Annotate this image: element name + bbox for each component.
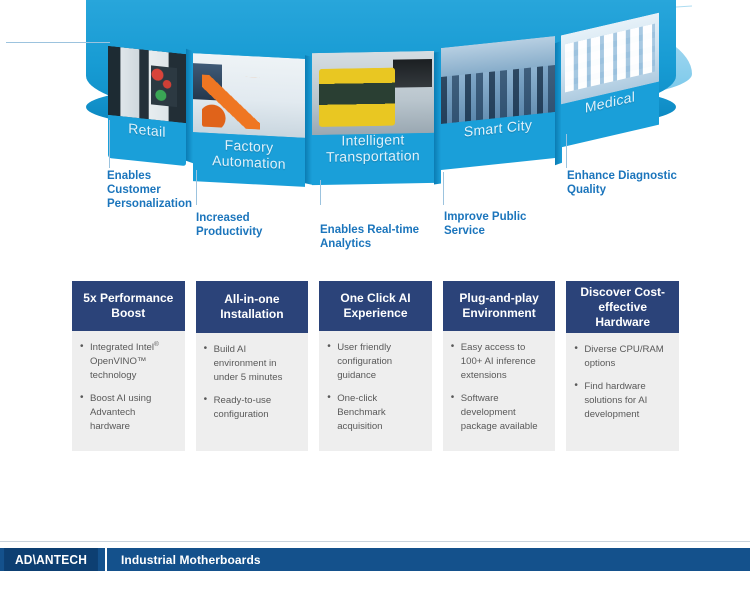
- segment-edge-factory: [305, 55, 312, 184]
- leader-line-retail: [109, 120, 110, 168]
- card-bullet: Software development package available: [450, 392, 548, 434]
- segment-intelligent-transportation[interactable]: Intelligent Transportation: [312, 51, 434, 185]
- bullet-text-pre: Boost AI using Advantech hardware: [90, 393, 151, 432]
- caption-city-line1: Improve Public: [444, 210, 526, 224]
- caption-smart-city: Improve Public Service: [444, 210, 526, 238]
- bullet-text-pre: Diverse CPU/RAM options: [584, 344, 663, 369]
- feature-card[interactable]: 5x Performance Boost Integrated Intel® O…: [72, 281, 185, 451]
- card-body: Integrated Intel® OpenVINO™ technology B…: [72, 331, 185, 451]
- bullet-text-pre: User friendly configuration guidance: [337, 342, 392, 381]
- card-bullet: Diverse CPU/RAM options: [573, 343, 671, 371]
- slide-canvas: Retail Factory Automation Intelligent Tr…: [0, 0, 750, 591]
- card-title: Discover Cost-effective Hardware: [566, 281, 679, 333]
- caption-factory: Increased Productivity: [196, 211, 262, 239]
- bullet-superscript: ®: [154, 341, 159, 348]
- feature-card-row: 5x Performance Boost Integrated Intel® O…: [72, 281, 679, 451]
- footer-title: Industrial Motherboards: [121, 553, 261, 567]
- card-bullet: Boost AI using Advantech hardware: [79, 392, 177, 434]
- caption-retail-line3: Personalization: [107, 197, 192, 211]
- leader-line-transport: [320, 180, 321, 205]
- leader-line-medical: [566, 134, 567, 168]
- caption-medical: Enhance Diagnostic Quality: [567, 169, 677, 197]
- feature-card[interactable]: Discover Cost-effective Hardware Diverse…: [566, 281, 679, 451]
- leader-line-city: [443, 172, 444, 205]
- smart-city-photo: [441, 36, 555, 124]
- card-body: Build AI environment in under 5 minutes …: [196, 333, 309, 451]
- segment-retail[interactable]: Retail: [108, 46, 186, 166]
- footer-divider-rule: [0, 541, 750, 542]
- card-bullet: Find hardware solutions for AI developme…: [573, 380, 671, 422]
- factory-photo: [193, 53, 305, 138]
- card-bullet: Integrated Intel® OpenVINO™ technology: [79, 341, 177, 383]
- bullet-text-pre: Software development package available: [461, 393, 538, 432]
- bullet-text-pre: Ready-to-use configuration: [214, 395, 272, 420]
- caption-medical-line1: Enhance Diagnostic: [567, 169, 677, 183]
- segment-label-transport-2: Transportation: [312, 147, 434, 165]
- card-title: One Click AI Experience: [319, 281, 432, 331]
- feature-card[interactable]: Plug-and-play Environment Easy access to…: [443, 281, 556, 451]
- segment-medical[interactable]: Medical: [561, 13, 659, 148]
- card-body: Diverse CPU/RAM options Find hardware so…: [566, 333, 679, 451]
- card-bullet: Ready-to-use configuration: [203, 394, 301, 422]
- card-bullet: Build AI environment in under 5 minutes: [203, 343, 301, 385]
- card-body: User friendly configuration guidance One…: [319, 331, 432, 451]
- footer-separator: [105, 548, 107, 571]
- card-title: Plug-and-play Environment: [443, 281, 556, 331]
- caption-retail: Enables Customer Personalization: [107, 169, 192, 211]
- caption-retail-line1: Enables: [107, 169, 192, 183]
- card-title: 5x Performance Boost: [72, 281, 185, 331]
- footer-bar: AD\ANTECH Industrial Motherboards: [0, 548, 750, 571]
- card-bullet: User friendly configuration guidance: [326, 341, 424, 383]
- leader-line-factory: [196, 170, 197, 205]
- transportation-photo: [312, 51, 434, 135]
- segment-factory-automation[interactable]: Factory Automation: [193, 53, 305, 187]
- feature-card[interactable]: One Click AI Experience User friendly co…: [319, 281, 432, 451]
- segment-smart-city[interactable]: Smart City: [441, 36, 555, 170]
- caption-factory-line1: Increased: [196, 211, 262, 225]
- caption-medical-line2: Quality: [567, 183, 677, 197]
- card-body: Easy access to 100+ AI inference extensi…: [443, 331, 556, 451]
- bullet-text-pre: Find hardware solutions for AI developme…: [584, 381, 647, 420]
- card-bullet: One-click Benchmark acquisition: [326, 392, 424, 434]
- card-bullet: Easy access to 100+ AI inference extensi…: [450, 341, 548, 383]
- caption-factory-line2: Productivity: [196, 225, 262, 239]
- segment-edge-retail: [186, 49, 193, 164]
- feature-card[interactable]: All-in-one Installation Build AI environ…: [196, 281, 309, 451]
- segment-edge-transport: [434, 52, 441, 185]
- caption-transport-line1: Enables Real-time: [320, 223, 419, 237]
- bullet-text-pre: One-click Benchmark acquisition: [337, 393, 386, 432]
- caption-retail-line2: Customer: [107, 183, 192, 197]
- retail-photo: [108, 46, 186, 124]
- bullet-text-post: OpenVINO™ technology: [90, 356, 147, 381]
- caption-transportation: Enables Real-time Analytics: [320, 223, 419, 251]
- caption-city-line2: Service: [444, 224, 526, 238]
- bullet-text-pre: Integrated Intel: [90, 342, 154, 353]
- bullet-text-pre: Easy access to 100+ AI inference extensi…: [461, 342, 536, 381]
- leader-line-horizontal-left: [6, 42, 110, 43]
- caption-transport-line2: Analytics: [320, 237, 419, 251]
- advantech-logo: AD\ANTECH: [4, 548, 98, 571]
- card-title: All-in-one Installation: [196, 281, 309, 333]
- bullet-text-pre: Build AI environment in under 5 minutes: [214, 344, 283, 383]
